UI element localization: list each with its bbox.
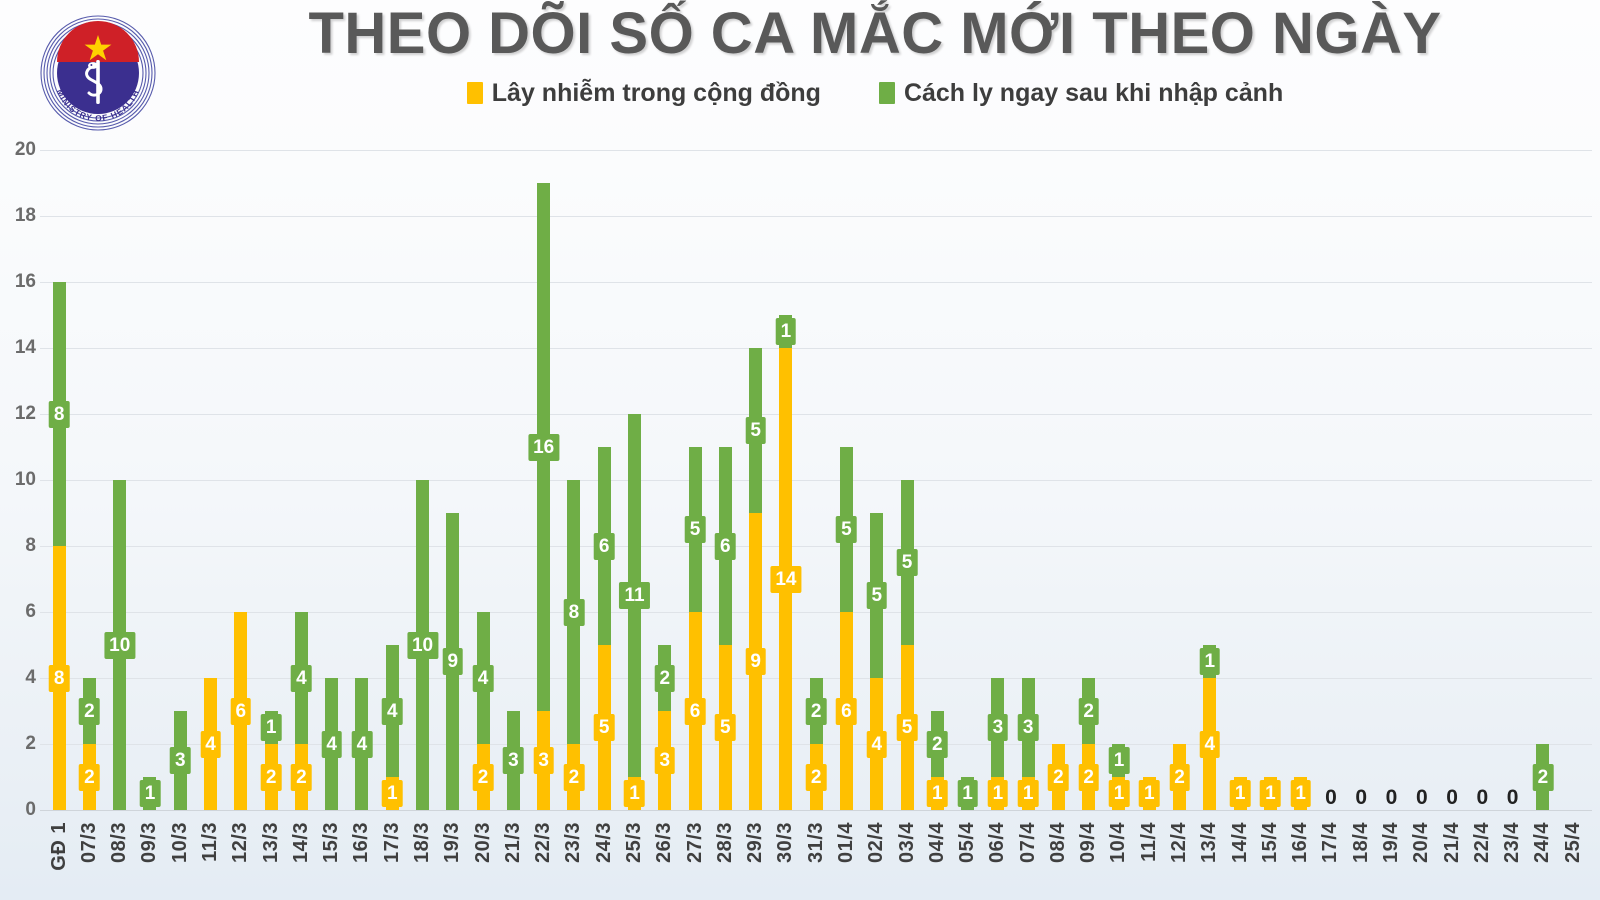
x-axis-tick-label: 09/3 xyxy=(138,822,161,863)
x-axis-tick: 17/4 xyxy=(1316,822,1346,900)
bar-stack: 4 xyxy=(204,678,217,810)
bar-value-label: 2 xyxy=(79,698,100,725)
bar-column[interactable]: 42 xyxy=(468,150,498,810)
bar-segment-quarantine[interactable]: 2 xyxy=(83,678,96,744)
bar-value-label: 2 xyxy=(564,764,585,791)
bar-column[interactable]: 1 xyxy=(1286,150,1316,810)
x-axis-tick: 11/3 xyxy=(195,822,225,900)
bar-column[interactable]: 163 xyxy=(529,150,559,810)
bar-value-label-zero: 0 xyxy=(1446,787,1458,808)
bar-segment-community[interactable]: 8 xyxy=(53,546,66,810)
bar-segment-quarantine[interactable]: 2 xyxy=(931,711,944,777)
bar-value-label: 5 xyxy=(866,582,887,609)
bar-segment-community[interactable]: 1 xyxy=(1022,777,1035,810)
bar-stack: 42 xyxy=(477,612,490,810)
bar-stack: 111 xyxy=(628,414,641,810)
bar-stack: 42 xyxy=(295,612,308,810)
bar-value-label: 1 xyxy=(140,780,161,807)
bar-segment-community[interactable]: 1 xyxy=(1294,777,1307,810)
bar-segment-quarantine[interactable]: 8 xyxy=(53,282,66,546)
chart-header: THEO DÕI SỐ CA MẮC MỚI THEO NGÀY Lây nhi… xyxy=(170,4,1580,108)
bar-column[interactable]: 55 xyxy=(892,150,922,810)
bar-segment-community[interactable]: 1 xyxy=(1234,777,1247,810)
bar-segment-quarantine[interactable]: 4 xyxy=(295,612,308,744)
x-axis-tick-label: 27/3 xyxy=(684,822,707,863)
bar-column[interactable]: 0 xyxy=(1437,150,1467,810)
logo-graphic: MINISTRY OF HEALTH xyxy=(33,8,163,138)
bar-value-label: 3 xyxy=(533,747,554,774)
x-axis-tick-label: 25/3 xyxy=(623,822,646,863)
bar-value-label: 9 xyxy=(745,648,766,675)
x-axis-tick: 25/4 xyxy=(1558,822,1588,900)
bar-segment-quarantine[interactable]: 2 xyxy=(658,645,671,711)
bar-column[interactable]: 1 xyxy=(1134,150,1164,810)
x-axis-tick-label: 15/4 xyxy=(1259,822,1282,863)
bar-column[interactable]: 12 xyxy=(256,150,286,810)
bar-stack: 31 xyxy=(1022,678,1035,810)
bar-segment-community[interactable]: 2 xyxy=(1082,744,1095,810)
bar-value-label: 4 xyxy=(200,731,221,758)
bar-segment-quarantine[interactable]: 1 xyxy=(1203,645,1216,678)
bar-segment-community[interactable]: 6 xyxy=(234,612,247,810)
bar-column[interactable]: 10 xyxy=(407,150,437,810)
bar-value-label: 5 xyxy=(836,516,857,543)
bar-column[interactable]: 114 xyxy=(771,150,801,810)
bar-segment-quarantine[interactable]: 2 xyxy=(1536,744,1549,810)
bar-column[interactable]: 0 xyxy=(1407,150,1437,810)
bar-stack: 56 xyxy=(689,447,702,810)
x-axis-tick: 08/3 xyxy=(105,822,135,900)
y-axis: 02468101214161820 xyxy=(0,150,40,810)
bar-column[interactable]: 31 xyxy=(983,150,1013,810)
bar-segment-community[interactable]: 5 xyxy=(901,645,914,810)
bar-column[interactable]: 31 xyxy=(1013,150,1043,810)
bar-value-label: 8 xyxy=(564,599,585,626)
x-axis-tick-label: 16/3 xyxy=(350,822,373,863)
chart-legend: Lây nhiễm trong cộng đồng Cách ly ngay s… xyxy=(170,79,1580,108)
bar-column[interactable]: 2 xyxy=(1164,150,1194,810)
bar-value-label: 5 xyxy=(897,714,918,741)
x-axis-tick: 20/4 xyxy=(1407,822,1437,900)
bar-segment-quarantine[interactable]: 4 xyxy=(477,612,490,744)
x-axis-tick-label: 13/3 xyxy=(260,822,283,863)
bar-column[interactable]: 65 xyxy=(589,150,619,810)
bar-segment-community[interactable]: 3 xyxy=(537,711,550,810)
bar-segment-community[interactable]: 2 xyxy=(477,744,490,810)
bar-value-label: 2 xyxy=(1078,764,1099,791)
bar-segment-community[interactable]: 1 xyxy=(386,777,399,810)
bar-column[interactable]: 56 xyxy=(680,150,710,810)
bar-value-label: 1 xyxy=(261,714,282,741)
bar-column[interactable]: 4 xyxy=(347,150,377,810)
bar-value-label: 2 xyxy=(473,764,494,791)
bar-segment-quarantine[interactable]: 5 xyxy=(901,480,914,645)
bar-stack: 65 xyxy=(598,447,611,810)
bar-segment-quarantine[interactable]: 3 xyxy=(1022,678,1035,777)
bar-segment-community[interactable]: 9 xyxy=(749,513,762,810)
bar-segment-community[interactable]: 3 xyxy=(658,711,671,810)
bar-segment-quarantine[interactable]: 5 xyxy=(749,348,762,513)
bar-segment-quarantine[interactable]: 3 xyxy=(507,711,520,810)
bar-stack: 82 xyxy=(567,480,580,810)
x-axis-tick-label: 23/3 xyxy=(562,822,585,863)
bar-segment-community[interactable]: 1 xyxy=(1143,777,1156,810)
bar-segment-community[interactable]: 2 xyxy=(265,744,278,810)
x-axis-tick: 21/4 xyxy=(1437,822,1467,900)
x-axis-tick: 07/3 xyxy=(74,822,104,900)
bar-value-label: 10 xyxy=(407,632,438,659)
x-axis-tick: 24/4 xyxy=(1528,822,1558,900)
bar-column[interactable]: 22 xyxy=(74,150,104,810)
x-axis-tick-label: 26/3 xyxy=(653,822,676,863)
bar-segment-community[interactable]: 1 xyxy=(931,777,944,810)
bar-column[interactable]: 56 xyxy=(831,150,861,810)
bar-value-label: 5 xyxy=(745,417,766,444)
bar-stack: 4 xyxy=(325,678,338,810)
y-axis-tick-label: 6 xyxy=(0,601,36,623)
bar-stack: 1 xyxy=(1143,777,1156,810)
bar-value-label: 1 xyxy=(927,780,948,807)
bar-stack: 2 xyxy=(1536,744,1549,810)
bar-segment-quarantine[interactable]: 10 xyxy=(416,480,429,810)
bar-stack: 41 xyxy=(386,645,399,810)
bar-value-label: 1 xyxy=(1139,780,1160,807)
x-axis-tick-label: 18/3 xyxy=(411,822,434,863)
bar-stack: 10 xyxy=(416,480,429,810)
bar-value-label: 1 xyxy=(1260,780,1281,807)
bar-column[interactable]: 88 xyxy=(44,150,74,810)
x-axis-tick: 17/3 xyxy=(377,822,407,900)
legend-label-quarantine: Cách ly ngay sau khi nhập cảnh xyxy=(904,79,1283,108)
x-axis-tick-label: 14/4 xyxy=(1229,822,1252,863)
bar-segment-quarantine[interactable]: 6 xyxy=(719,447,732,645)
bar-segment-quarantine[interactable]: 4 xyxy=(325,678,338,810)
bar-segment-community[interactable]: 6 xyxy=(689,612,702,810)
page-title: THEO DÕI SỐ CA MẮC MỚI THEO NGÀY xyxy=(170,4,1580,65)
bar-stack: 22 xyxy=(810,678,823,810)
bar-segment-quarantine[interactable]: 3 xyxy=(174,711,187,810)
bar-stack: 22 xyxy=(1082,678,1095,810)
bar-stack: 55 xyxy=(901,480,914,810)
x-axis: GĐ 107/308/309/310/311/312/313/314/315/3… xyxy=(44,822,1588,900)
bar-column[interactable]: 82 xyxy=(559,150,589,810)
bar-stack: 31 xyxy=(991,678,1004,810)
bar-value-label: 4 xyxy=(382,698,403,725)
x-axis-tick-label: 29/3 xyxy=(744,822,767,863)
bar-value-label-zero: 0 xyxy=(1416,787,1428,808)
x-axis-tick-label: 20/3 xyxy=(472,822,495,863)
x-axis-tick-label: 28/3 xyxy=(714,822,737,863)
bar-column[interactable]: 65 xyxy=(710,150,740,810)
x-axis-tick-label: 08/3 xyxy=(108,822,131,863)
bar-segment-quarantine[interactable]: 2 xyxy=(1082,678,1095,744)
x-axis-tick: 12/4 xyxy=(1164,822,1194,900)
x-axis-tick: 15/4 xyxy=(1255,822,1285,900)
x-axis-tick: 15/3 xyxy=(317,822,347,900)
bar-value-label: 2 xyxy=(806,698,827,725)
bar-segment-quarantine[interactable]: 11 xyxy=(628,414,641,777)
bar-value-label: 4 xyxy=(473,665,494,692)
x-axis-tick-label: 23/4 xyxy=(1501,822,1524,863)
bar-column[interactable]: 3 xyxy=(165,150,195,810)
bar-value-label: 1 xyxy=(624,780,645,807)
x-axis-tick-label: 24/4 xyxy=(1531,822,1554,863)
x-axis-tick: 11/4 xyxy=(1134,822,1164,900)
bar-column[interactable]: 1 xyxy=(952,150,982,810)
bar-value-label: 6 xyxy=(685,698,706,725)
x-axis-tick: 04/4 xyxy=(922,822,952,900)
x-axis-tick-label: 16/4 xyxy=(1289,822,1312,863)
bar-value-label: 8 xyxy=(49,401,70,428)
x-axis-tick: 20/3 xyxy=(468,822,498,900)
bar-segment-quarantine[interactable]: 1 xyxy=(265,711,278,744)
x-axis-tick-label: 01/4 xyxy=(835,822,858,863)
bar-stack: 4 xyxy=(355,678,368,810)
bar-stack: 1 xyxy=(143,777,156,810)
bar-column[interactable]: 23 xyxy=(650,150,680,810)
x-axis-tick: 21/3 xyxy=(498,822,528,900)
bar-column[interactable]: 42 xyxy=(286,150,316,810)
x-axis-tick: 08/4 xyxy=(1043,822,1073,900)
legend-item-community[interactable]: Lây nhiễm trong cộng đồng xyxy=(467,79,821,108)
x-axis-tick-label: 30/3 xyxy=(774,822,797,863)
bar-stack: 11 xyxy=(1112,744,1125,810)
bar-column[interactable]: 1 xyxy=(1225,150,1255,810)
bar-column[interactable]: 0 xyxy=(1467,150,1497,810)
bar-column[interactable]: 111 xyxy=(619,150,649,810)
bar-value-label-zero: 0 xyxy=(1477,787,1489,808)
x-axis-tick: 22/3 xyxy=(529,822,559,900)
x-axis-tick: 14/4 xyxy=(1225,822,1255,900)
bar-value-label: 4 xyxy=(1200,731,1221,758)
bar-stack: 65 xyxy=(719,447,732,810)
bar-segment-quarantine[interactable]: 9 xyxy=(446,513,459,810)
bar-segment-quarantine[interactable]: 4 xyxy=(355,678,368,810)
bar-column[interactable]: 1 xyxy=(135,150,165,810)
legend-item-quarantine[interactable]: Cách ly ngay sau khi nhập cảnh xyxy=(879,79,1283,108)
x-axis-tick-label: 19/4 xyxy=(1380,822,1403,863)
x-axis-tick: 26/3 xyxy=(650,822,680,900)
x-axis-tick: 01/4 xyxy=(831,822,861,900)
bar-segment-community[interactable]: 2 xyxy=(83,744,96,810)
bar-column[interactable]: 0 xyxy=(1498,150,1528,810)
bar-column[interactable]: 0 xyxy=(1346,150,1376,810)
bar-column[interactable]: 6 xyxy=(226,150,256,810)
x-axis-tick-label: 14/3 xyxy=(290,822,313,863)
chart-plot-area: 02468101214161820 8822101346124244411094… xyxy=(0,150,1600,820)
bar-stack: 2 xyxy=(1173,744,1186,810)
bar-column[interactable]: 1 xyxy=(1255,150,1285,810)
x-axis-tick-label: 06/4 xyxy=(986,822,1009,863)
x-axis-tick-label: 22/4 xyxy=(1471,822,1494,863)
bar-segment-quarantine[interactable]: 16 xyxy=(537,183,550,711)
bar-segment-quarantine[interactable]: 2 xyxy=(810,678,823,744)
bar-column[interactable]: 14 xyxy=(1195,150,1225,810)
x-axis-tick-label: 10/3 xyxy=(169,822,192,863)
x-axis-tick: 19/4 xyxy=(1376,822,1406,900)
bar-value-label: 2 xyxy=(261,764,282,791)
x-axis-tick: 23/3 xyxy=(559,822,589,900)
x-axis-tick: 07/4 xyxy=(1013,822,1043,900)
bar-stack: 10 xyxy=(113,480,126,810)
x-axis-tick: 09/4 xyxy=(1074,822,1104,900)
bar-stack: 1 xyxy=(1264,777,1277,810)
y-axis-tick-label: 14 xyxy=(0,337,36,359)
bar-value-label: 16 xyxy=(528,434,559,461)
bar-segment-quarantine[interactable]: 5 xyxy=(840,447,853,612)
x-axis-tick: 16/4 xyxy=(1286,822,1316,900)
bar-value-label: 3 xyxy=(170,747,191,774)
bar-segment-community[interactable]: 1 xyxy=(1112,777,1125,810)
bar-column[interactable]: 59 xyxy=(740,150,770,810)
bar-segment-community[interactable]: 4 xyxy=(1203,678,1216,810)
bar-segment-quarantine[interactable]: 6 xyxy=(598,447,611,645)
bar-stack: 59 xyxy=(749,348,762,810)
bar-segment-quarantine[interactable]: 4 xyxy=(386,645,399,777)
x-axis-tick-label: 10/4 xyxy=(1107,822,1130,863)
bar-stack: 114 xyxy=(779,315,792,810)
bar-value-label: 5 xyxy=(897,549,918,576)
bar-segment-quarantine[interactable]: 5 xyxy=(870,513,883,678)
bar-stack: 1 xyxy=(1234,777,1247,810)
y-axis-tick-label: 8 xyxy=(0,535,36,557)
bar-value-label: 4 xyxy=(352,731,373,758)
bar-value-label-zero: 0 xyxy=(1507,787,1519,808)
bar-column[interactable]: 54 xyxy=(862,150,892,810)
x-axis-tick-label: 02/4 xyxy=(865,822,888,863)
bar-value-label: 1 xyxy=(1200,648,1221,675)
x-axis-tick: 23/4 xyxy=(1498,822,1528,900)
bar-segment-quarantine[interactable]: 8 xyxy=(567,480,580,744)
x-axis-tick-label: 05/4 xyxy=(956,822,979,863)
x-axis-tick-label: 11/4 xyxy=(1138,822,1161,862)
bar-segment-quarantine[interactable]: 1 xyxy=(961,777,974,810)
bar-column[interactable]: 3 xyxy=(498,150,528,810)
bar-segment-quarantine[interactable]: 1 xyxy=(143,777,156,810)
x-axis-tick-label: 07/4 xyxy=(1017,822,1040,863)
bar-value-label: 1 xyxy=(988,780,1009,807)
bar-value-label-zero: 0 xyxy=(1386,787,1398,808)
y-axis-tick-label: 2 xyxy=(0,733,36,755)
x-axis-tick: 12/3 xyxy=(226,822,256,900)
x-axis-tick: 27/3 xyxy=(680,822,710,900)
x-axis-tick-label: 18/4 xyxy=(1350,822,1373,863)
bar-column[interactable]: 22 xyxy=(1074,150,1104,810)
x-axis-tick-label: 13/4 xyxy=(1198,822,1221,863)
x-axis-tick: 03/4 xyxy=(892,822,922,900)
x-axis-tick-label: 07/3 xyxy=(78,822,101,863)
bar-stack: 2 xyxy=(1052,744,1065,810)
y-axis-tick-label: 18 xyxy=(0,205,36,227)
bar-segment-community[interactable]: 2 xyxy=(1173,744,1186,810)
bar-column[interactable]: 11 xyxy=(1104,150,1134,810)
bar-value-label: 5 xyxy=(715,714,736,741)
bar-segment-community[interactable]: 2 xyxy=(567,744,580,810)
bar-segment-community[interactable]: 2 xyxy=(295,744,308,810)
bar-segment-quarantine[interactable]: 5 xyxy=(689,447,702,612)
bar-stack: 1 xyxy=(1294,777,1307,810)
bar-value-label: 9 xyxy=(443,648,464,675)
bar-value-label: 2 xyxy=(1533,764,1554,791)
x-axis-tick: 29/3 xyxy=(740,822,770,900)
bar-value-label: 6 xyxy=(594,533,615,560)
bar-segment-quarantine[interactable]: 10 xyxy=(113,480,126,810)
bar-value-label: 2 xyxy=(806,764,827,791)
bar-segment-quarantine[interactable]: 1 xyxy=(1112,744,1125,777)
bar-segment-community[interactable]: 5 xyxy=(719,645,732,810)
bar-value-label: 1 xyxy=(957,780,978,807)
bar-value-label: 1 xyxy=(1109,780,1130,807)
legend-label-community: Lây nhiễm trong cộng đồng xyxy=(492,79,821,108)
bar-column[interactable]: 41 xyxy=(377,150,407,810)
bar-value-label: 14 xyxy=(770,566,801,593)
x-axis-tick-label: 17/4 xyxy=(1319,822,1342,863)
bar-value-label: 3 xyxy=(654,747,675,774)
x-axis-tick: 09/3 xyxy=(135,822,165,900)
x-axis-tick: 24/3 xyxy=(589,822,619,900)
bar-column[interactable]: 22 xyxy=(801,150,831,810)
bar-stack: 14 xyxy=(1203,645,1216,810)
bar-segment-community[interactable]: 4 xyxy=(204,678,217,810)
x-axis-tick: 14/3 xyxy=(286,822,316,900)
bar-column[interactable]: 4 xyxy=(195,150,225,810)
bar-column[interactable] xyxy=(1558,150,1588,810)
bar-column[interactable]: 21 xyxy=(922,150,952,810)
bar-column[interactable]: 0 xyxy=(1376,150,1406,810)
bar-stack: 9 xyxy=(446,513,459,810)
bar-segment-community[interactable]: 2 xyxy=(1052,744,1065,810)
bar-column[interactable]: 2 xyxy=(1528,150,1558,810)
bar-segment-community[interactable]: 1 xyxy=(628,777,641,810)
x-axis-tick: 30/3 xyxy=(771,822,801,900)
bar-segment-quarantine[interactable]: 1 xyxy=(779,315,792,348)
gridline xyxy=(40,810,1592,811)
x-axis-tick-label: 15/3 xyxy=(320,822,343,863)
bar-value-label: 1 xyxy=(1230,780,1251,807)
bar-segment-community[interactable]: 5 xyxy=(598,645,611,810)
bar-stack: 6 xyxy=(234,612,247,810)
bar-value-label: 3 xyxy=(988,714,1009,741)
y-axis-tick-label: 4 xyxy=(0,667,36,689)
x-axis-tick: 13/3 xyxy=(256,822,286,900)
bar-value-label: 2 xyxy=(1078,698,1099,725)
x-axis-tick-label: 12/4 xyxy=(1168,822,1191,863)
bar-column[interactable]: 2 xyxy=(1043,150,1073,810)
bar-value-label: 4 xyxy=(291,665,312,692)
bar-column[interactable]: 0 xyxy=(1316,150,1346,810)
bar-segment-community[interactable]: 14 xyxy=(779,348,792,810)
bar-value-label: 5 xyxy=(594,714,615,741)
bar-value-label: 2 xyxy=(927,731,948,758)
bar-stack: 88 xyxy=(53,282,66,810)
bar-value-label: 5 xyxy=(685,516,706,543)
bar-segment-community[interactable]: 2 xyxy=(810,744,823,810)
bar-stack: 163 xyxy=(537,183,550,810)
bar-value-label: 6 xyxy=(715,533,736,560)
bar-segment-community[interactable]: 1 xyxy=(1264,777,1277,810)
bar-column[interactable]: 10 xyxy=(105,150,135,810)
bar-segment-community[interactable]: 6 xyxy=(840,612,853,810)
bar-column[interactable]: 9 xyxy=(438,150,468,810)
x-axis-tick-label: 20/4 xyxy=(1410,822,1433,863)
bar-segment-community[interactable]: 4 xyxy=(870,678,883,810)
bar-value-label-zero: 0 xyxy=(1355,787,1367,808)
bar-column[interactable]: 4 xyxy=(317,150,347,810)
bar-value-label: 3 xyxy=(1018,714,1039,741)
bar-segment-quarantine[interactable]: 3 xyxy=(991,678,1004,777)
x-axis-tick-label: 25/4 xyxy=(1562,822,1585,863)
bar-segment-community[interactable]: 1 xyxy=(991,777,1004,810)
